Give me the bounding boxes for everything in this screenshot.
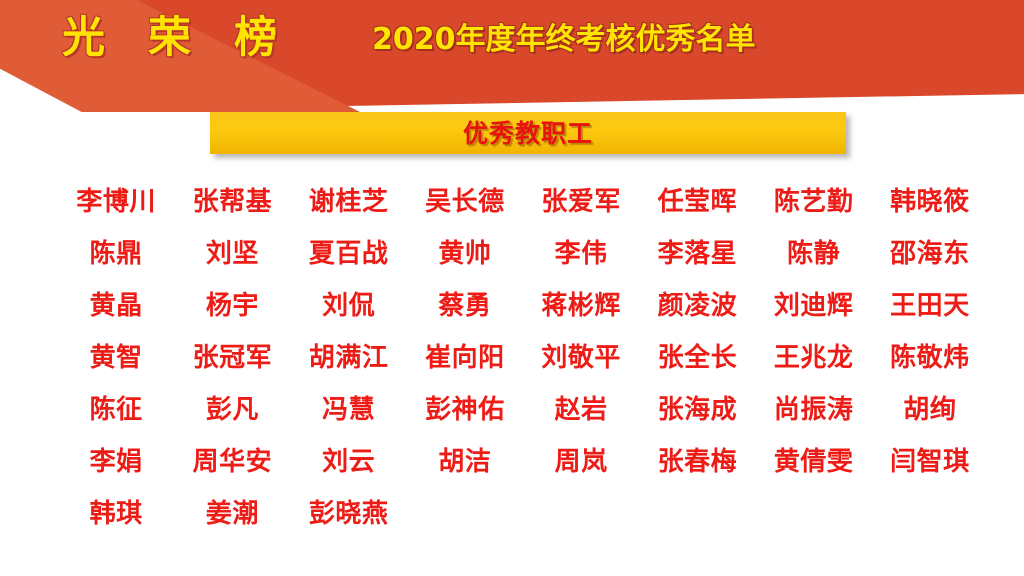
name-cell: 夏百战: [291, 241, 407, 267]
name-cell: 黄晶: [58, 293, 174, 319]
name-cell: 邵海东: [872, 241, 988, 267]
name-row: 陈鼎 刘坚 夏百战 黄帅 李伟 李落星 陈静 邵海东: [58, 228, 988, 280]
name-row: 黄智 张冠军 胡满江 崔向阳 刘敬平 张全长 王兆龙 陈敬炜: [58, 332, 988, 384]
name-cell: 刘敬平: [523, 345, 639, 371]
name-cell: 刘坚: [174, 241, 290, 267]
name-cell: 周华安: [174, 449, 290, 475]
name-row: 陈征 彭凡 冯慧 彭神佑 赵岩 张海成 尚振涛 胡绚: [58, 384, 988, 436]
name-row: 李娟 周华安 刘云 胡洁 周岚 张春梅 黄倩雯 闫智琪: [58, 436, 988, 488]
name-cell: 蔡勇: [407, 293, 523, 319]
name-cell: 陈敬炜: [872, 345, 988, 371]
name-cell: 韩琪: [58, 501, 174, 527]
name-cell: 刘云: [291, 449, 407, 475]
name-cell: 蒋彬辉: [523, 293, 639, 319]
name-cell: 闫智琪: [872, 449, 988, 475]
name-cell: 黄智: [58, 345, 174, 371]
name-cell: 黄帅: [407, 241, 523, 267]
name-cell: 崔向阳: [407, 345, 523, 371]
name-cell: 刘迪辉: [756, 293, 872, 319]
category-banner: 优秀教职工: [210, 112, 846, 154]
name-cell: 任莹晖: [639, 189, 755, 215]
name-cell: 冯慧: [291, 397, 407, 423]
name-cell: 张全长: [639, 345, 755, 371]
name-cell: 彭神佑: [407, 397, 523, 423]
name-cell: 赵岩: [523, 397, 639, 423]
name-cell: 张海成: [639, 397, 755, 423]
name-cell: 胡满江: [291, 345, 407, 371]
name-cell: 张帮基: [174, 189, 290, 215]
honor-roll-slide: 光 荣 榜 2020年度年终考核优秀名单 优秀教职工 李博川 张帮基 谢桂芝 吴…: [0, 0, 1024, 576]
name-cell: 杨宇: [174, 293, 290, 319]
name-cell: 陈艺勤: [756, 189, 872, 215]
name-cell: 吴长德: [407, 189, 523, 215]
name-cell: 韩晓筱: [872, 189, 988, 215]
name-cell: 张爱军: [523, 189, 639, 215]
name-cell: 胡洁: [407, 449, 523, 475]
name-cell: 胡绚: [872, 397, 988, 423]
name-grid: 李博川 张帮基 谢桂芝 吴长德 张爱军 任莹晖 陈艺勤 韩晓筱 陈鼎 刘坚 夏百…: [58, 176, 988, 540]
name-cell: 周岚: [523, 449, 639, 475]
name-cell: 李落星: [639, 241, 755, 267]
name-cell: 张冠军: [174, 345, 290, 371]
name-cell: 颜凌波: [639, 293, 755, 319]
name-cell: 李博川: [58, 189, 174, 215]
name-cell: 陈鼎: [58, 241, 174, 267]
name-row: 黄晶 杨宇 刘侃 蔡勇 蒋彬辉 颜凌波 刘迪辉 王田天: [58, 280, 988, 332]
name-cell: 陈征: [58, 397, 174, 423]
name-cell: 李伟: [523, 241, 639, 267]
name-cell: 姜潮: [174, 501, 290, 527]
name-row: 韩琪 姜潮 彭晓燕: [58, 488, 988, 540]
name-cell: 李娟: [58, 449, 174, 475]
name-cell: 王兆龙: [756, 345, 872, 371]
name-cell: 彭凡: [174, 397, 290, 423]
honor-roll-title: 光 荣 榜: [62, 17, 291, 60]
name-cell: 黄倩雯: [756, 449, 872, 475]
name-cell: 陈静: [756, 241, 872, 267]
category-banner-label: 优秀教职工: [463, 121, 593, 146]
name-cell: 张春梅: [639, 449, 755, 475]
name-cell: 彭晓燕: [291, 501, 407, 527]
name-cell: 谢桂芝: [291, 189, 407, 215]
name-row: 李博川 张帮基 谢桂芝 吴长德 张爱军 任莹晖 陈艺勤 韩晓筱: [58, 176, 988, 228]
name-cell: 王田天: [872, 293, 988, 319]
name-cell: 尚振涛: [756, 397, 872, 423]
name-cell: 刘侃: [291, 293, 407, 319]
page-title: 2020年度年终考核优秀名单: [372, 25, 756, 55]
